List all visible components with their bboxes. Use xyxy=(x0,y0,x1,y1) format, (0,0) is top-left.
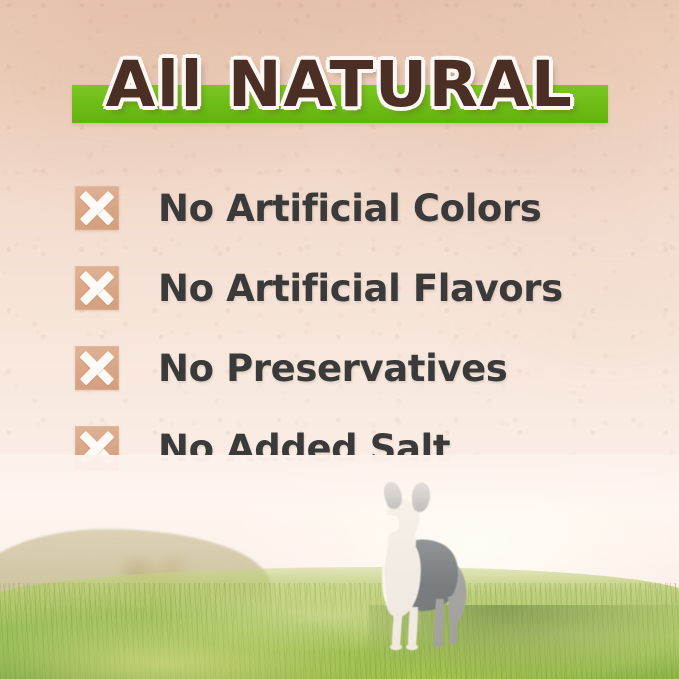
x-mark-icon xyxy=(75,186,119,230)
claim-row-no-artificial-colors: No Artificial Colors xyxy=(0,168,679,248)
claim-label: No Artificial Colors xyxy=(158,190,541,227)
lifestyle-photo xyxy=(0,455,679,679)
headline-title: All NATURAL xyxy=(0,44,679,126)
claim-row-no-artificial-flavors: No Artificial Flavors xyxy=(0,248,679,328)
x-mark-icon xyxy=(75,266,119,310)
claim-label: No Artificial Flavors xyxy=(158,270,563,307)
photo-meadow xyxy=(0,567,679,679)
headline-banner: All NATURAL xyxy=(0,44,679,136)
all-natural-product-panel: All NATURAL No Artificial Colors No Arti… xyxy=(0,0,679,679)
claim-row-no-preservatives: No Preservatives xyxy=(0,328,679,408)
claim-label: No Preservatives xyxy=(158,350,507,387)
x-mark-icon xyxy=(75,346,119,390)
claims-list: No Artificial Colors No Artificial Flavo… xyxy=(0,168,679,488)
